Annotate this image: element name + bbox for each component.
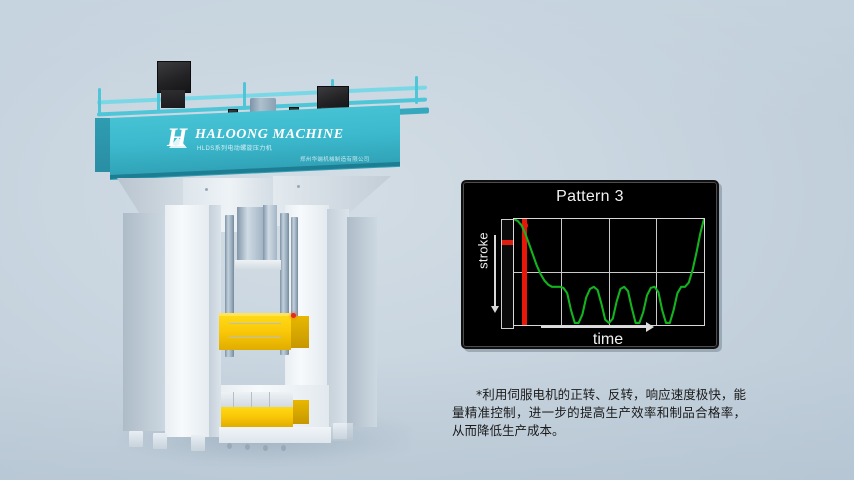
slide-right-face	[291, 316, 309, 348]
bolster-front-face	[221, 407, 293, 427]
y-axis-label: stroke	[476, 222, 491, 280]
foot-1	[129, 431, 143, 447]
pattern-chart-panel: Pattern 3 stroke time	[461, 180, 719, 349]
foot-3	[191, 435, 205, 451]
bed-bolt-3	[263, 445, 268, 451]
logo-triangle-icon	[169, 137, 187, 148]
neck-bolt-3	[297, 185, 300, 188]
chart-title: Pattern 3	[463, 188, 717, 206]
foot-2	[153, 433, 167, 449]
railing-post-3	[243, 82, 246, 110]
railing-post-1	[98, 88, 101, 116]
company-name: 郑州华端机械制造有限公司	[300, 155, 370, 163]
machine-model: HLDS系列电动螺旋压力机	[197, 143, 272, 152]
stroke-direction-arrow-icon	[494, 235, 496, 307]
bed-bolt-2	[245, 444, 250, 450]
column-front-right-side	[327, 209, 349, 435]
column-back-left	[123, 213, 167, 431]
bed-bolt-4	[281, 445, 286, 451]
ram-shoe	[235, 260, 281, 270]
column-front-left	[165, 205, 213, 437]
foot-4	[333, 423, 347, 439]
caption-text: *利用伺服电机的正转、反转，响应速度极快，能量精准控制，进一步的提高生产效率和制…	[452, 386, 746, 440]
bed-front	[219, 427, 331, 443]
column-back-right	[347, 217, 377, 427]
bed-bolt-1	[227, 443, 232, 449]
die-slot-3	[269, 392, 270, 408]
bolster-right-face	[293, 400, 309, 424]
servo-press-machine: H HALOONG MACHINE HLDS系列电动螺旋压力机 郑州华端机械制造…	[95, 55, 440, 470]
railing-post-5	[415, 76, 418, 104]
chart-plot-area[interactable]	[513, 218, 705, 326]
neck-bolt-1	[205, 188, 208, 191]
slide-front-face	[219, 316, 291, 350]
brand-name: HALOONG MACHINE	[195, 127, 344, 143]
die-slot-2	[251, 392, 252, 408]
stroke-curve	[514, 219, 704, 325]
bolster-die-plate	[221, 392, 293, 408]
time-direction-arrow-icon	[541, 326, 647, 328]
die-slot-1	[233, 392, 234, 408]
slide-groove-1	[229, 323, 281, 324]
stroke-axis-group: stroke	[468, 217, 512, 329]
slide-groove-2	[229, 337, 281, 338]
indicator-lamp	[291, 313, 296, 318]
main-ram-side	[263, 205, 277, 263]
servo-motor-left	[157, 61, 191, 93]
x-axis-label: time	[513, 331, 703, 349]
servo-motor-left-base	[161, 90, 185, 108]
banner-left-face	[95, 118, 111, 172]
stroke-slider-knob[interactable]	[502, 240, 513, 245]
